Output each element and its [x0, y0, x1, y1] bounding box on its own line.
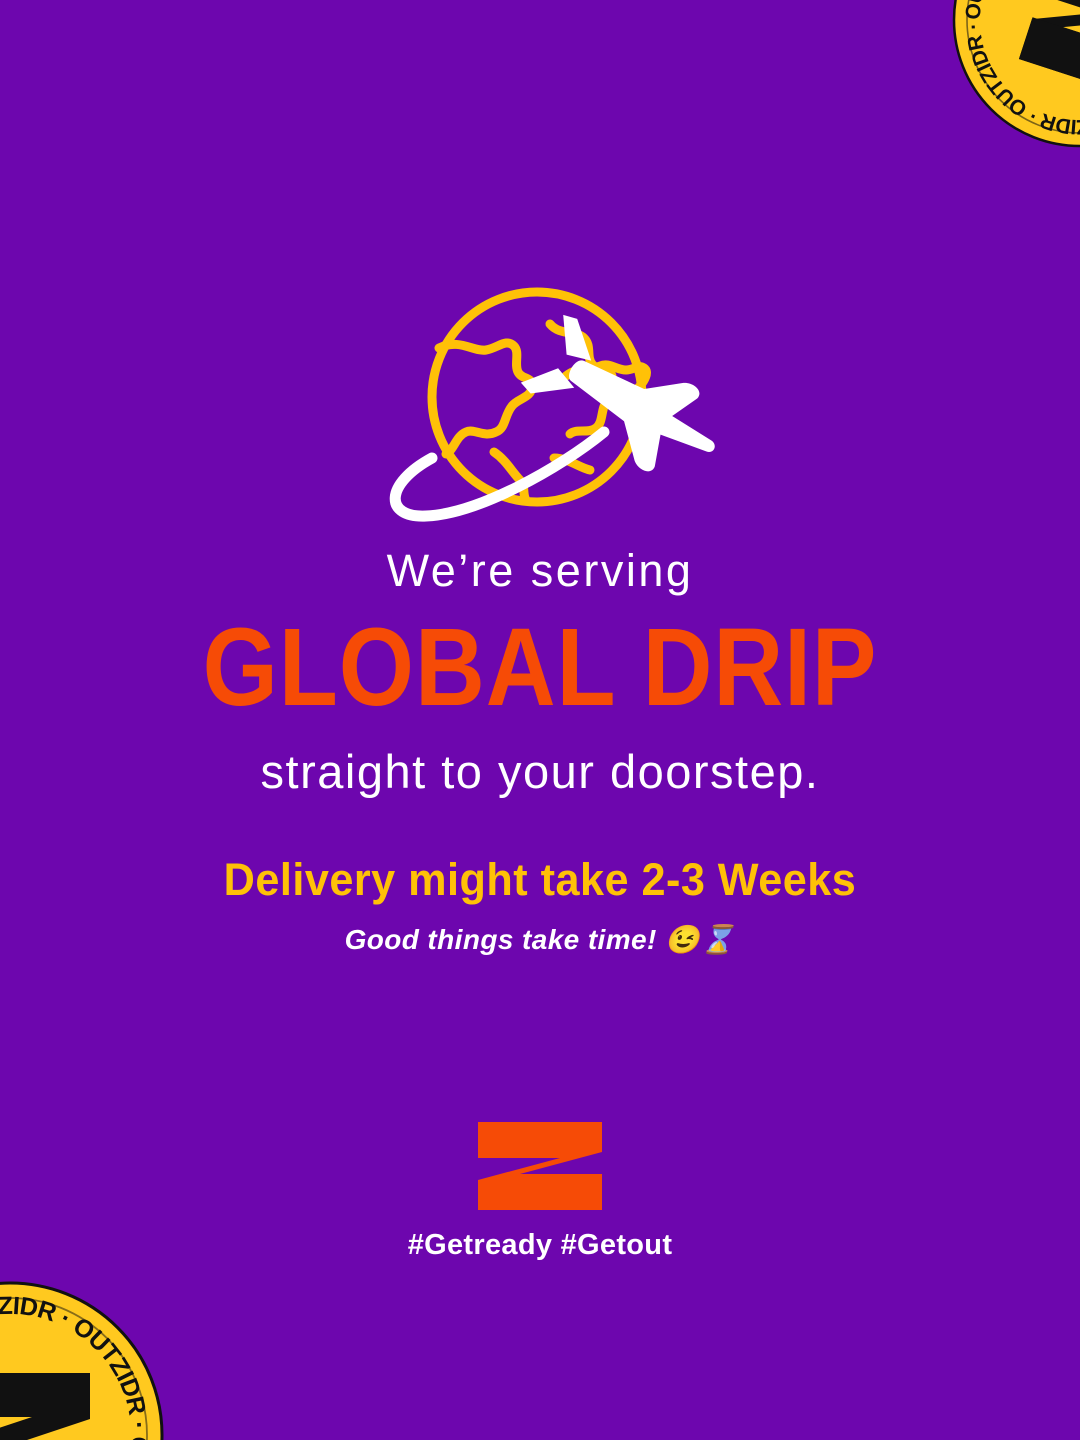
outzidr-badge-top-right[interactable]: OUTZIDR · OUTZIDR · OUTZIDR · OUTZIDR · …: [952, 0, 1080, 148]
eyebrow-text: We’re serving: [0, 548, 1080, 593]
outzidr-badge-bottom-left[interactable]: OUTZIDR · OUTZIDR · OUTZIDR · OUTZIDR · …: [0, 1280, 165, 1440]
copy-block: We’re serving GLOBAL DRIP straight to yo…: [0, 548, 1080, 954]
subline-text: straight to your doorstep.: [0, 748, 1080, 795]
z-mark: [478, 1122, 602, 1210]
poster-canvas: OUTZIDR · OUTZIDR · OUTZIDR · OUTZIDR · …: [0, 0, 1080, 1440]
delivery-note: Delivery might take 2-3 Weeks: [22, 857, 1059, 902]
footer-block: #Getready #Getout: [0, 1122, 1080, 1260]
orbit-swoosh: [395, 432, 604, 516]
delivery-subnote: Good things take time! 😉⌛: [0, 926, 1080, 954]
globe-airplane-icon: [354, 272, 726, 522]
page-title: GLOBAL DRIP: [38, 613, 1042, 723]
hashtags-text: #Getready #Getout: [0, 1231, 1080, 1260]
outzidr-z-logo[interactable]: [478, 1122, 602, 1210]
